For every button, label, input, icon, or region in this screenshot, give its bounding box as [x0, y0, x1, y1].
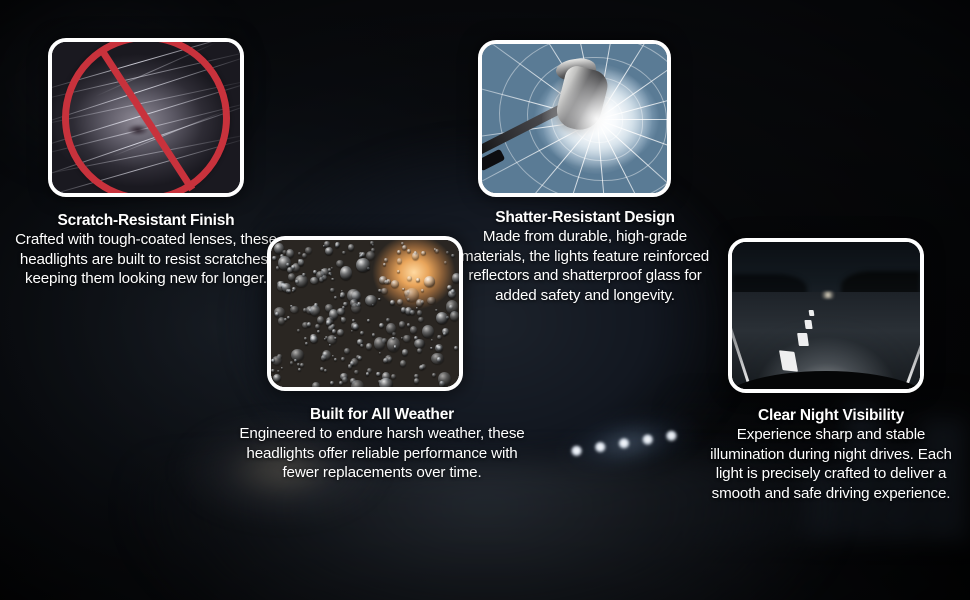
- night-road-headlight-beam-photo: [732, 242, 920, 389]
- rain-drops-on-glass-photo-frame: [267, 236, 463, 391]
- caption-all-weather: Built for All Weather Engineered to endu…: [232, 405, 532, 483]
- feature-block-all-weather: Built for All Weather Engineered to endu…: [232, 236, 532, 483]
- feature-body: Engineered to endure harsh weather, thes…: [232, 424, 532, 482]
- feature-title: Clear Night Visibility: [700, 406, 962, 425]
- rain-drops-on-glass-photo: [271, 240, 459, 387]
- prohibition-icon: [62, 42, 230, 193]
- feature-title: Built for All Weather: [232, 405, 532, 424]
- feature-body: Experience sharp and stable illumination…: [700, 425, 962, 503]
- night-road-headlight-beam-photo-frame: [728, 238, 924, 393]
- scratched-lens-prohibition-photo-frame: [48, 38, 244, 197]
- scratched-lens-prohibition-photo: [52, 42, 240, 193]
- hammer-shattering-glass-photo: [482, 44, 667, 193]
- feature-block-night-visibility: Clear Night Visibility Experience sharp …: [700, 238, 962, 503]
- hammer-shattering-glass-photo-frame: [478, 40, 671, 197]
- caption-night-visibility: Clear Night Visibility Experience sharp …: [700, 406, 962, 503]
- feature-title: Shatter-Resistant Design: [455, 208, 715, 227]
- feature-title: Scratch-Resistant Finish: [12, 211, 280, 230]
- feature-highlight-banner: Scratch-Resistant Finish Crafted with to…: [0, 0, 970, 600]
